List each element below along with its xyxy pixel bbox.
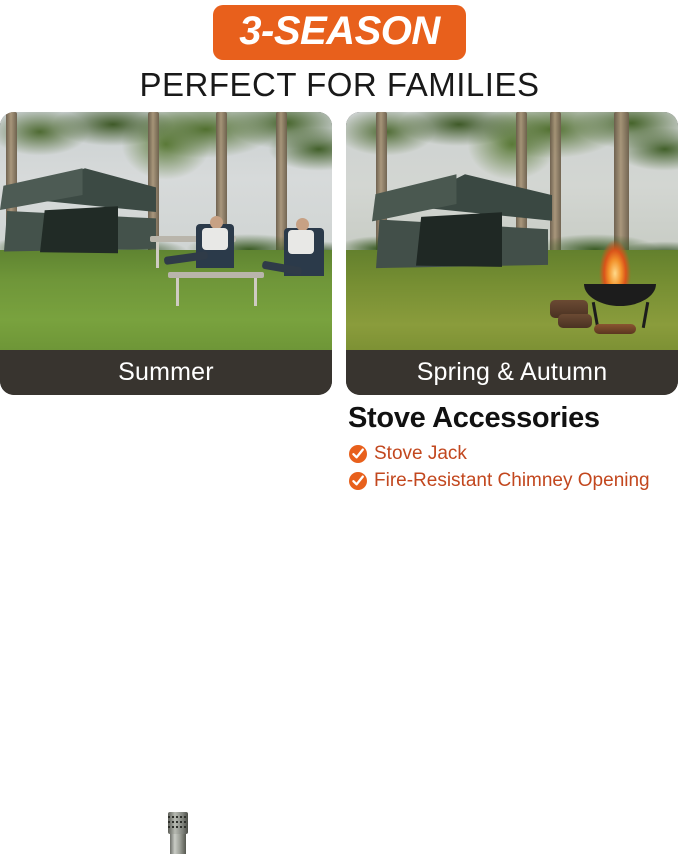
- season-badge: 3-SEASON: [213, 5, 466, 60]
- summer-photo: [0, 112, 332, 350]
- hero-product-image: whiteduck MOUNTAIN FJ: [0, 400, 679, 854]
- header: 3-SEASON PERFECT FOR FAMILIES: [0, 0, 679, 103]
- camp-table-leg: [254, 278, 257, 306]
- season-panel-row: Summer: [0, 112, 679, 395]
- spring-autumn-caption-label: Spring & Autumn: [417, 358, 608, 387]
- season-badge-label: 3-SEASON: [239, 10, 440, 52]
- season-panel-spring-autumn: Spring & Autumn: [346, 112, 678, 395]
- camp-table-leg: [176, 278, 179, 306]
- summer-caption-bar: Summer: [0, 350, 332, 395]
- summer-caption-label: Summer: [118, 358, 214, 387]
- header-subtitle: PERFECT FOR FAMILIES: [0, 67, 679, 103]
- hero-stage: whiteduck MOUNTAIN FJ: [0, 400, 679, 854]
- camp-table-leg: [156, 242, 159, 268]
- spring-autumn-caption-bar: Spring & Autumn: [346, 350, 678, 395]
- firewood-log: [594, 324, 636, 334]
- firewood-log: [558, 314, 592, 328]
- camp-table: [168, 272, 264, 278]
- chimney-cap: [168, 812, 188, 834]
- season-panel-summer: Summer: [0, 112, 332, 395]
- spring-autumn-photo: [346, 112, 678, 350]
